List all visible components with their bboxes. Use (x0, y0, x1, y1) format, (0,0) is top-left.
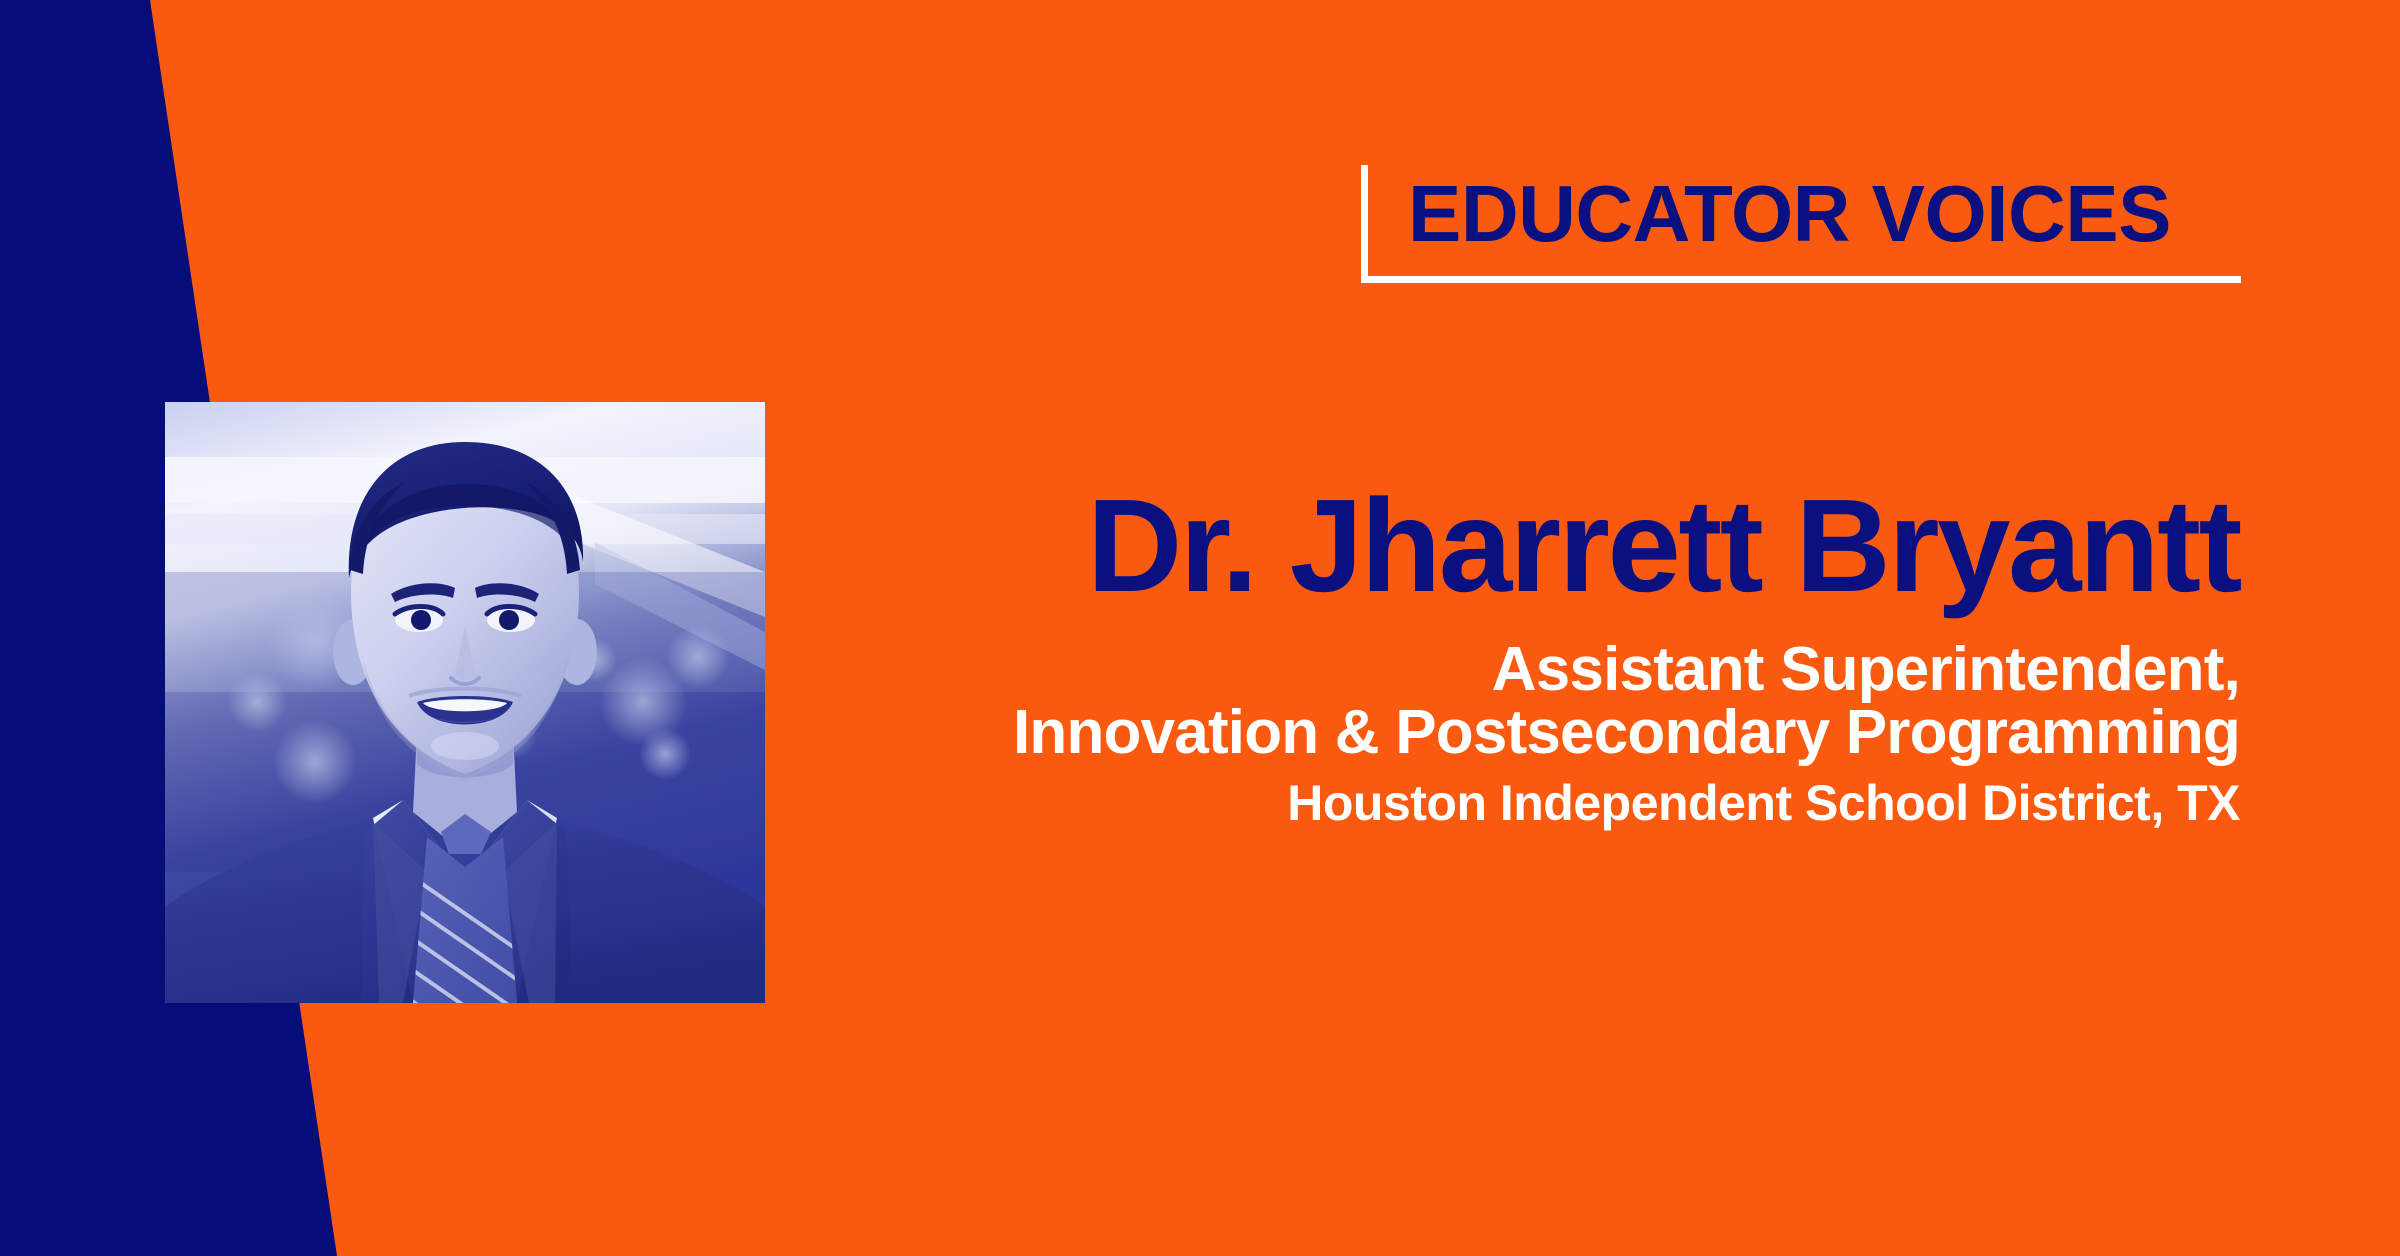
person-name: Dr. Jharrett Bryantt (700, 480, 2240, 612)
corner-bracket-icon (1361, 165, 1368, 283)
person-organization: Houston Independent School District, TX (700, 777, 2240, 830)
eyebrow-badge: EDUCATOR VOICES (1361, 160, 2241, 288)
avatar (165, 402, 765, 1003)
corner-bracket-rule-icon (1361, 276, 2241, 283)
person-role-line-1: Assistant Superintendent, (700, 638, 2240, 701)
person-role: Assistant Superintendent, Innovation & P… (700, 638, 2240, 764)
educator-voices-card: EDUCATOR VOICES Dr. Jharrett Bryantt Ass… (0, 0, 2400, 1256)
eyebrow-label: EDUCATOR VOICES (1408, 160, 2237, 268)
person-role-line-2: Innovation & Postsecondary Programming (700, 701, 2240, 764)
person-details: Dr. Jharrett Bryantt Assistant Superinte… (700, 480, 2240, 830)
